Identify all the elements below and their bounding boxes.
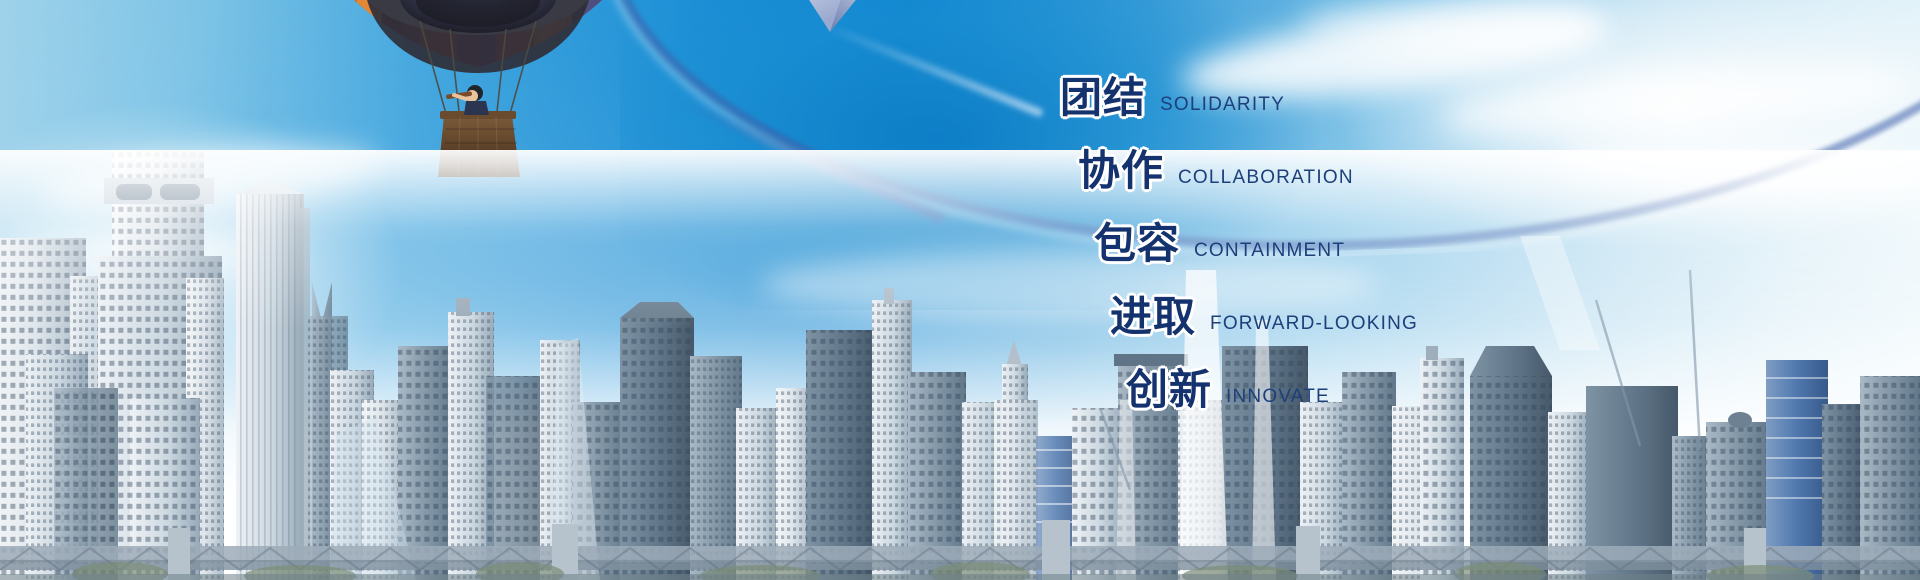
- slogan-row: 进取 FORWARD-LOOKING: [1110, 283, 1680, 344]
- slogan-english: COLLABORATION: [1178, 167, 1354, 189]
- slogan-chinese: 创新: [1126, 356, 1212, 417]
- slogan-chinese: 协作: [1078, 137, 1164, 198]
- balloon-passenger-icon: [446, 85, 489, 115]
- slogan-list: 团结 SOLIDARITY 协作 COLLABORATION 包容 CONTAI…: [1060, 64, 1680, 429]
- slogan-english: FORWARD-LOOKING: [1210, 313, 1418, 335]
- slogan-chinese: 团结: [1060, 64, 1146, 125]
- slogan-english: SOLIDARITY: [1160, 94, 1285, 116]
- slogan-row: 包容 CONTAINMENT: [1094, 210, 1680, 271]
- culture-banner: 团结 SOLIDARITY 协作 COLLABORATION 包容 CONTAI…: [0, 0, 1920, 580]
- slogan-english: INNOVATE: [1226, 386, 1330, 408]
- slogan-chinese: 进取: [1110, 283, 1196, 344]
- slogan-english: CONTAINMENT: [1194, 240, 1345, 262]
- slogan-row: 创新 INNOVATE: [1126, 356, 1680, 417]
- paper-plane-icon: [770, 0, 930, 80]
- slogan-row: 团结 SOLIDARITY: [1060, 64, 1680, 125]
- slogan-row: 协作 COLLABORATION: [1078, 137, 1680, 198]
- slogan-chinese: 包容: [1094, 210, 1180, 271]
